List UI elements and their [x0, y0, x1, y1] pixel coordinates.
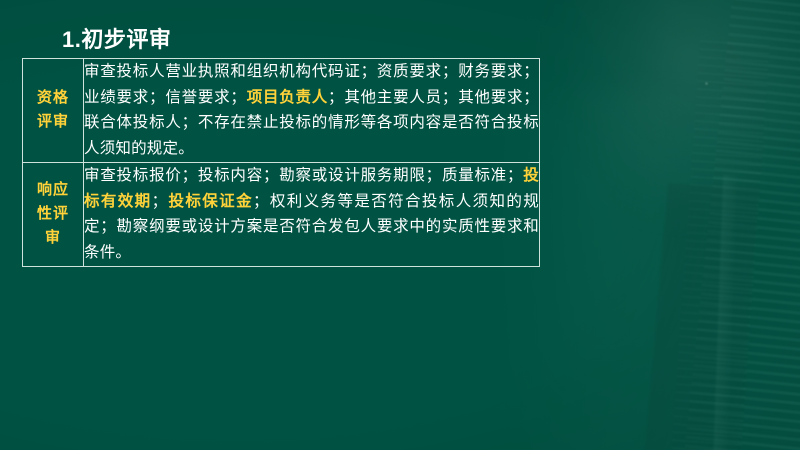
category-label-line: 资格	[23, 86, 83, 110]
table-cell-description-qualification: 审查投标人营业执照和组织机构代码证；资质要求；财务要求；业绩要求；信誉要求；项目…	[84, 59, 540, 163]
table-row: 资格 评审 审查投标人营业执照和组织机构代码证；资质要求；财务要求；业绩要求；信…	[23, 59, 540, 163]
category-label: 响应 性评 审	[23, 178, 83, 251]
category-label-line: 响应	[23, 178, 83, 202]
table-row: 响应 性评 审 审查投标报价；投标内容；勘察或设计服务期限；质量标准；投标有效期…	[23, 162, 540, 266]
slide-canvas: 1.初步评审 资格 评审 审查投标人营业执照和组织机构代码证；资质要求；财务要求…	[0, 0, 800, 450]
description-segment: ；	[152, 193, 168, 210]
description-text: 审查投标报价；投标内容；勘察或设计服务期限；质量标准；投标有效期；投标保证金；权…	[84, 163, 539, 266]
highlight-segment: 项目负责人	[246, 89, 328, 106]
category-label-line: 评审	[23, 110, 83, 134]
highlight-segment: 投标保证金	[167, 193, 253, 210]
evaluation-table: 资格 评审 审查投标人营业执照和组织机构代码证；资质要求；财务要求；业绩要求；信…	[22, 58, 540, 267]
evaluation-table-body: 资格 评审 审查投标人营业执照和组织机构代码证；资质要求；财务要求；业绩要求；信…	[23, 59, 540, 267]
slide-content: 1.初步评审 资格 评审 审查投标人营业执照和组织机构代码证；资质要求；财务要求…	[0, 0, 800, 450]
category-label-line: 审	[23, 226, 83, 250]
category-label: 资格 评审	[23, 86, 83, 135]
category-label-line: 性评	[23, 202, 83, 226]
description-text: 审查投标人营业执照和组织机构代码证；资质要求；财务要求；业绩要求；信誉要求；项目…	[84, 59, 539, 162]
table-cell-category-qualification: 资格 评审	[23, 59, 84, 163]
page-title: 1.初步评审	[62, 22, 171, 54]
description-segment: 审查投标报价；投标内容；勘察或设计服务期限；质量标准；	[84, 167, 523, 184]
table-cell-category-responsiveness: 响应 性评 审	[23, 162, 84, 266]
table-cell-description-responsiveness: 审查投标报价；投标内容；勘察或设计服务期限；质量标准；投标有效期；投标保证金；权…	[84, 162, 540, 266]
